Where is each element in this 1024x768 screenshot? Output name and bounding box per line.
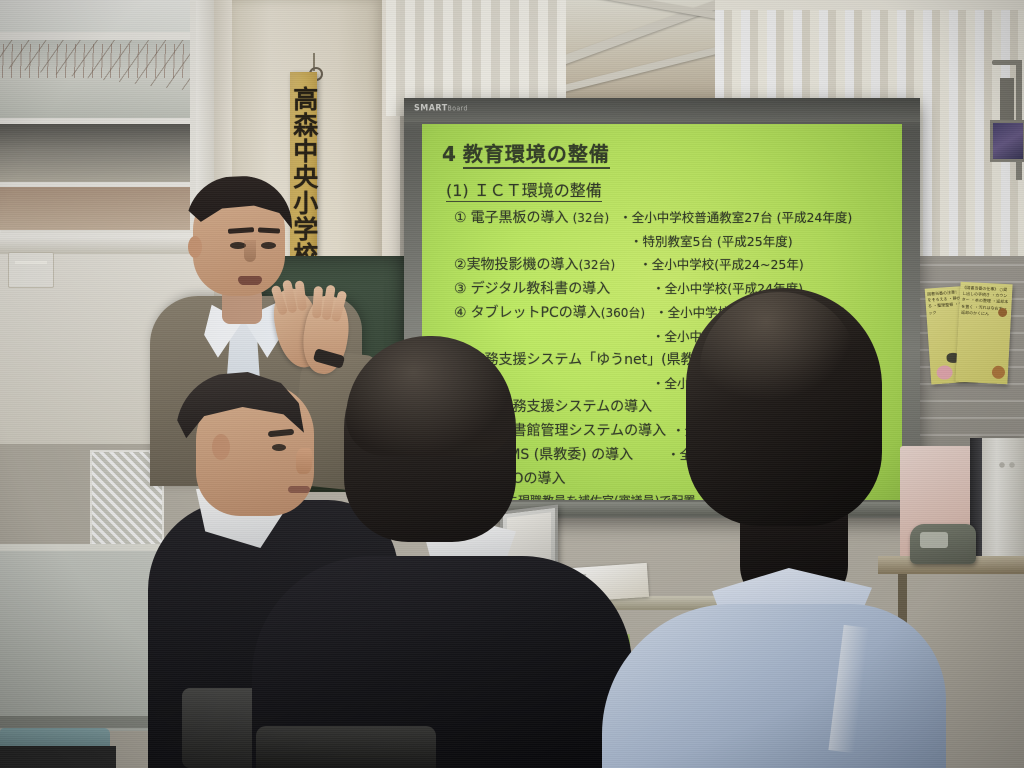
roof-beam-3 (581, 0, 720, 23)
slide-item-detail: ・全小中学校普通教室27台 (平成24年度) (619, 207, 852, 226)
window-pane-dark (0, 124, 190, 182)
curtain-rail (715, 0, 1024, 10)
pc-tower (982, 438, 1024, 556)
presenter-mouth (238, 276, 262, 285)
attendee-older-man-ear (212, 434, 230, 460)
presenter-eyebrow-right (258, 227, 280, 233)
sign-hook (313, 53, 315, 71)
pc-tower-logo (998, 460, 1018, 470)
presenter-ear (188, 236, 202, 258)
slide-section-heading: (1) ＩＣＴ環境の整備 (446, 177, 892, 201)
monitor-screen (990, 120, 1024, 162)
slide-title-text: 教育環境の整備 (463, 142, 610, 169)
wall-mounted-monitor (992, 60, 1024, 180)
window-pane-top (0, 0, 190, 32)
slide-item-marker: ③ (454, 281, 467, 297)
smart-board-logo-brand: SMART (414, 103, 448, 113)
poster-decor-flower-icon (936, 365, 953, 380)
slide-item-marker: ④ (454, 305, 467, 321)
wall-vent (8, 252, 54, 288)
chair-center-front (256, 726, 436, 768)
presenter-eye-right (261, 242, 276, 249)
attendee-older-man-mouth (288, 486, 310, 493)
classroom-photo: 高森中央小学校 SMARTBoard 4教育環境の整備 (1) ＩＣＴ環境の整備 (0, 0, 1024, 768)
slide-item-marker: ① (454, 210, 467, 226)
window-mullion-h1 (0, 32, 190, 40)
slide-title: 4教育環境の整備 (442, 138, 610, 167)
slide-title-number: 4 (442, 142, 457, 166)
slide-item-text: デジタル教科書の導入 (471, 278, 611, 298)
attendee-right-man-shirt (602, 604, 946, 768)
window-left (0, 0, 208, 240)
desk-phone (910, 524, 976, 564)
slide-item-text: 電子黒板の導入 (471, 207, 569, 227)
window-mullion-h2 (0, 118, 190, 124)
slide-item-qty: (360台) (601, 304, 645, 321)
slide-item-qty: (32台) (579, 256, 616, 273)
poster-decor-acorn-icon (998, 308, 1007, 317)
window-pane-roof (0, 40, 190, 118)
slide-item-detail2: ・特別教室5台 (平成25年度) (630, 231, 793, 250)
slide-item: ② 実物投影機の導入 (32台) ・全小中学校(平成24~25年) (454, 254, 892, 274)
slide-item-qty: (32台) (573, 209, 610, 226)
smart-board-bezel (404, 98, 920, 122)
smart-board-logo: SMARTBoard (414, 103, 468, 113)
slide-item-text: タブレットPCの導入 (471, 302, 601, 322)
school-name-sign-text: 高森中央小学校 (290, 86, 317, 268)
attendee-older-man-eye (272, 444, 286, 451)
roof-slant-texture (0, 40, 190, 96)
slide-item-detail-row: ・特別教室5台 (平成25年度) (630, 231, 892, 250)
window-top-right (560, 0, 720, 114)
attendee-older-man-nose (296, 448, 312, 474)
slide-section-heading-text: (1) ＩＣＴ環境の整備 (446, 181, 602, 202)
poster-decor-bear-icon (992, 365, 1006, 379)
smart-board-logo-sub: Board (448, 105, 468, 113)
slide-item-text: 実物投影機の導入 (467, 254, 579, 274)
window-mullion-h3 (0, 182, 190, 187)
poster-library-duty-2: 《図書当番の仕事》 ○貸し出しの手続き ・カウンター ・本の整理 ・返却本を置く… (955, 282, 1012, 385)
chair-left-frame (0, 746, 116, 768)
slide-item: ① 電子黒板の導入 (32台) ・全小中学校普通教室27台 (平成24年度) (454, 207, 892, 227)
presenter-nose (244, 240, 256, 262)
monitor-arm-plate (1000, 78, 1014, 126)
slide-item: ③ デジタル教科書の導入 ・全小中学校(平成24年度) (454, 278, 892, 298)
window-pane-ground (0, 186, 190, 230)
slide-item-marker: ② (454, 257, 467, 273)
slide-item-detail: ・全小中学校(平成24~25年) (639, 254, 804, 273)
